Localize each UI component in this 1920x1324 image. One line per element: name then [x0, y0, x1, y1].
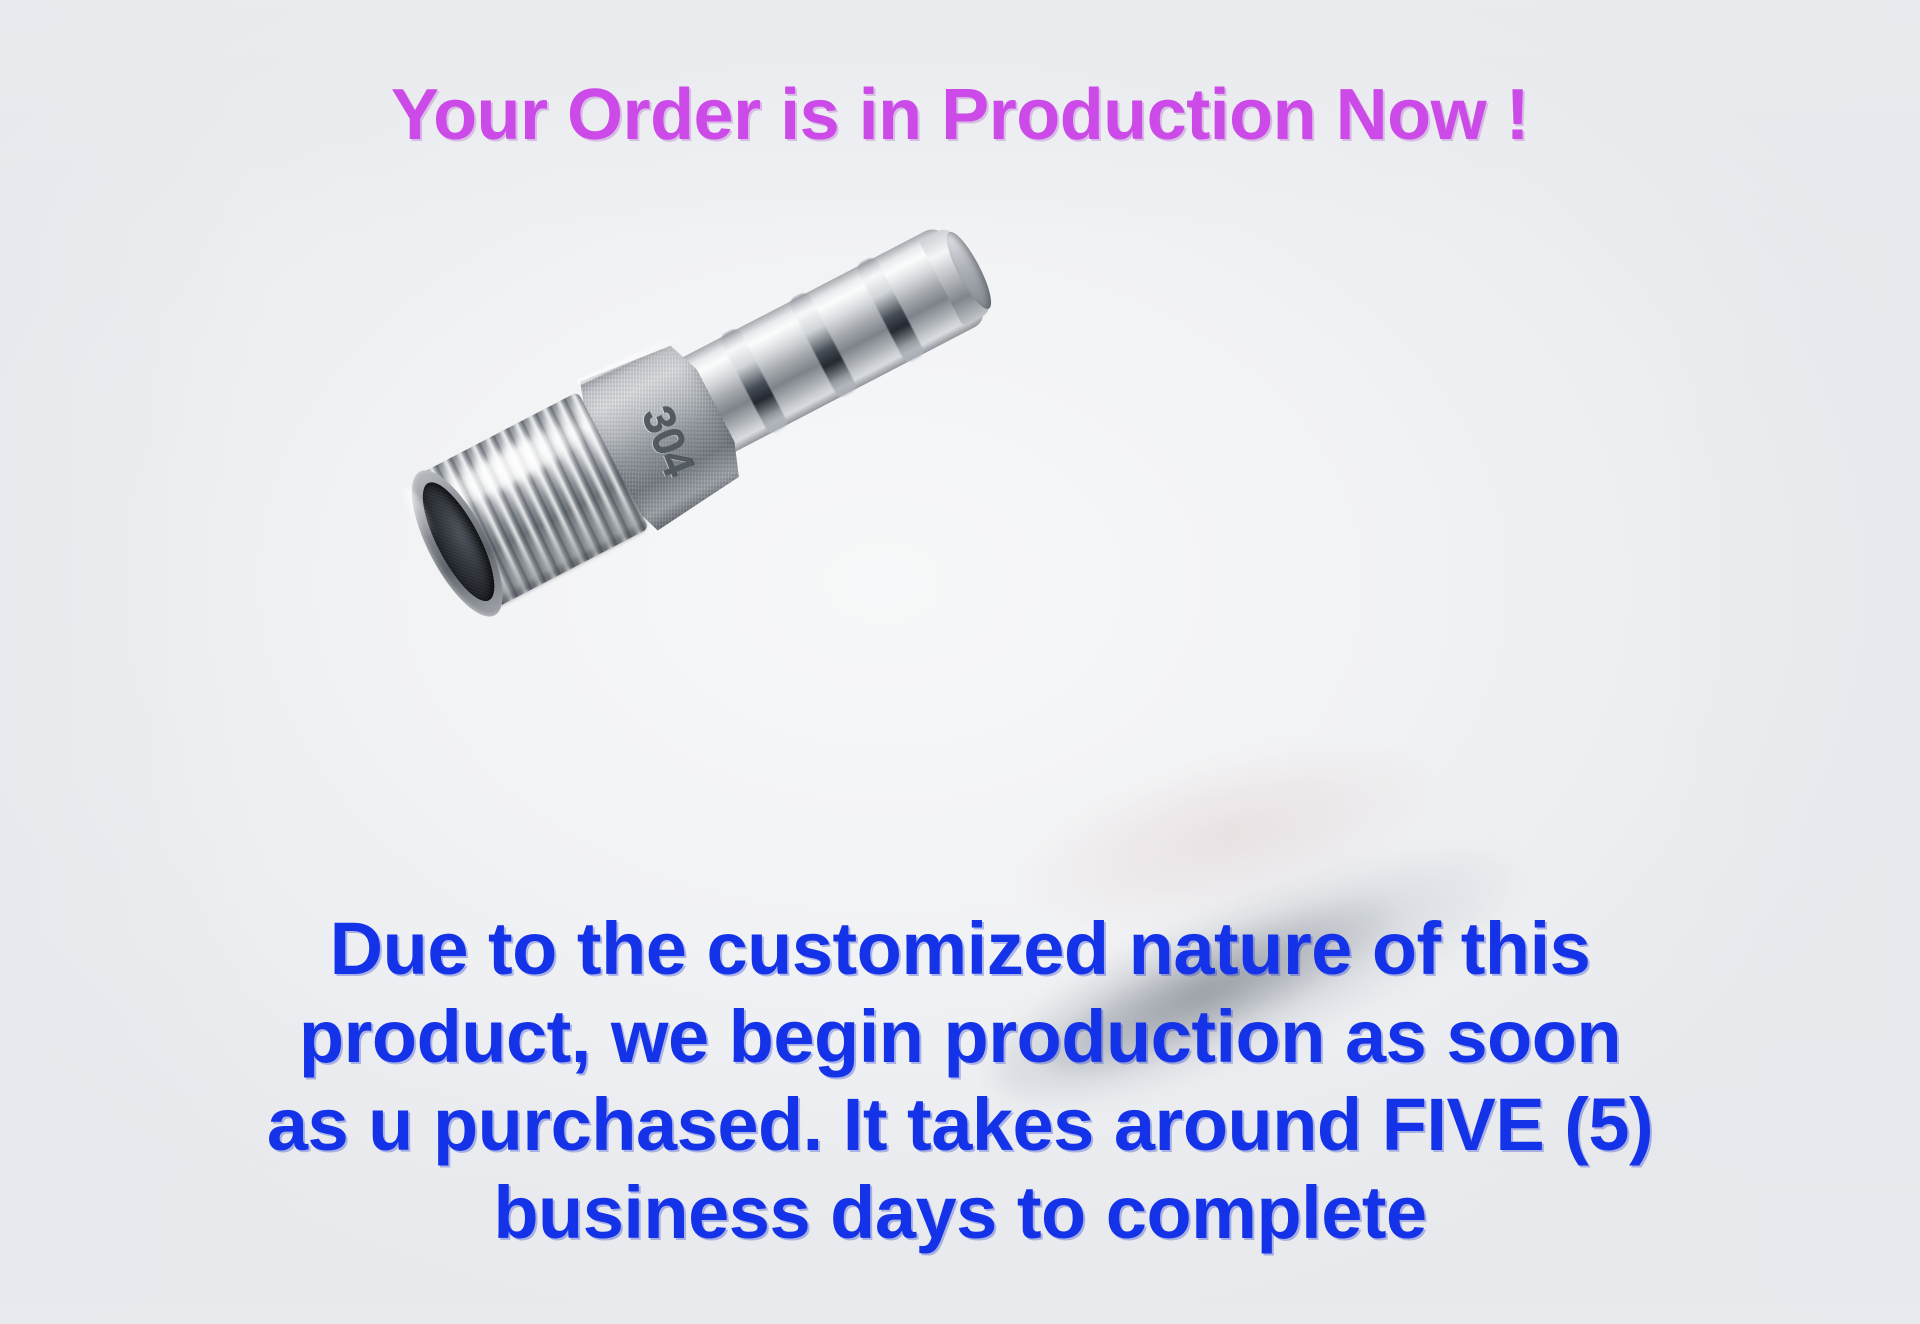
product-photo: 304 — [470, 300, 1150, 760]
promo-banner: Your Order is in Production Now ! 304 — [0, 0, 1920, 1324]
message-line-1: Due to the customized nature of this — [0, 905, 1920, 993]
message-line-3: as u purchased. It takes around FIVE (5) — [0, 1081, 1920, 1169]
production-message: Due to the customized nature of this pro… — [0, 905, 1920, 1257]
message-line-2: product, we begin production as soon — [0, 993, 1920, 1081]
message-line-4: business days to complete — [0, 1169, 1920, 1257]
